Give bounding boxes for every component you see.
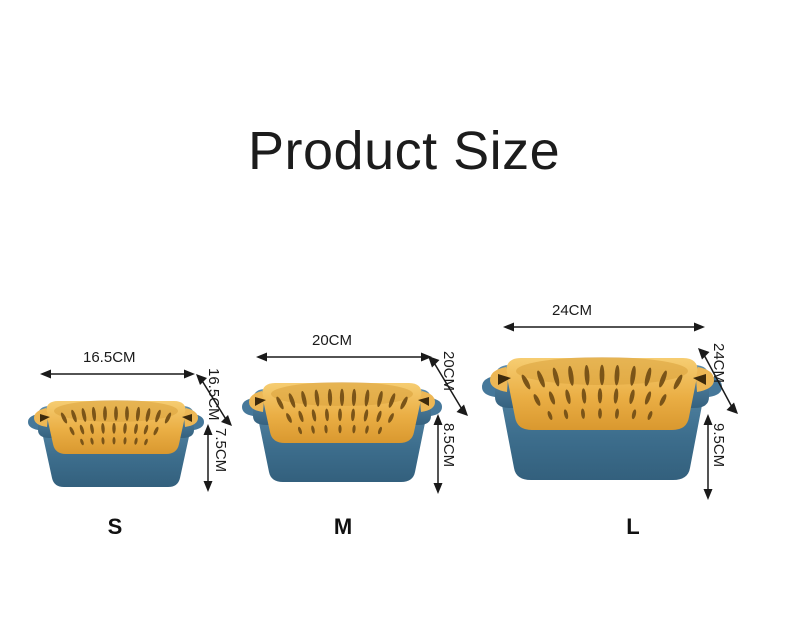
- small-size-label: S: [95, 516, 135, 538]
- medium-depth-label: 20CM: [441, 351, 456, 391]
- medium-height-label: 8.5CM: [441, 423, 456, 467]
- large-basket-graphic: [484, 338, 720, 490]
- product-small: 16.5CM: [0, 0, 260, 560]
- medium-basket-graphic: [244, 366, 440, 490]
- product-medium: 20CM: [240, 0, 500, 560]
- product-large: 24CM: [470, 0, 790, 560]
- medium-size-label: M: [323, 516, 363, 538]
- small-height-label: 7.5CM: [213, 428, 228, 472]
- small-depth-label: 16.5CM: [206, 368, 221, 421]
- medium-width-label: 20CM: [312, 333, 352, 348]
- product-size-infographic: Product Size 16.5CM: [0, 0, 790, 619]
- large-width-arrow: [503, 321, 705, 333]
- large-width-label: 24CM: [552, 303, 592, 318]
- small-basket-graphic: [30, 386, 202, 494]
- large-depth-label: 24CM: [711, 343, 726, 383]
- large-height-label: 9.5CM: [711, 423, 726, 467]
- large-size-label: L: [613, 516, 653, 538]
- small-width-arrow: [40, 368, 195, 380]
- medium-width-arrow: [256, 351, 432, 363]
- small-width-label: 16.5CM: [83, 350, 136, 365]
